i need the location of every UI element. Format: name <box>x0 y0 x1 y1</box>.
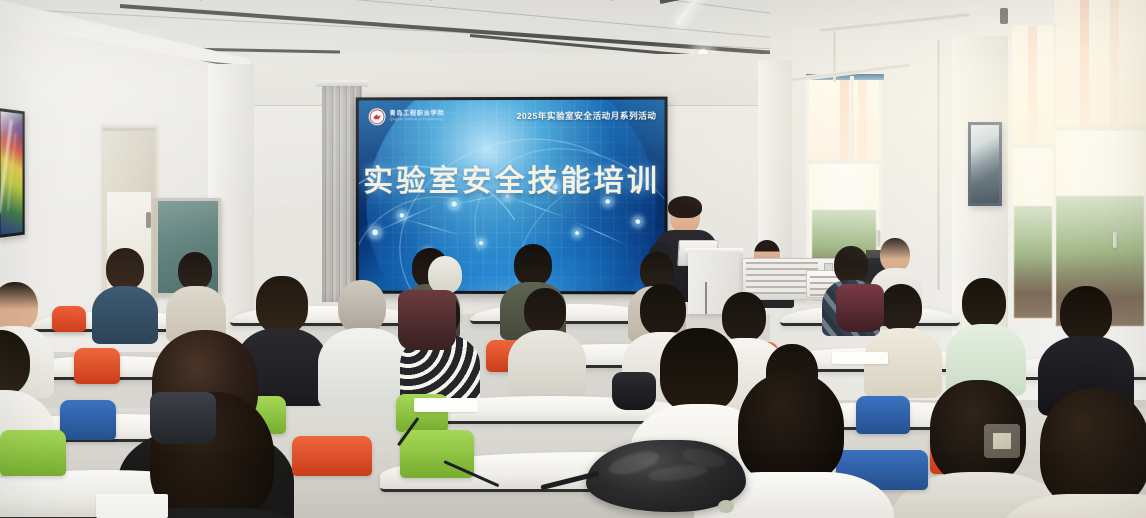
attendee-head <box>962 278 1006 328</box>
window-handle[interactable] <box>876 230 880 246</box>
notebook-page <box>96 494 168 518</box>
attendee-head <box>338 280 386 334</box>
classroom-photo-scene: 青岛工程职业学院 Qingdao Institute of Engineerin… <box>0 0 1146 518</box>
attendee-head <box>106 248 144 290</box>
umbrella-tip <box>718 500 734 513</box>
notebook-page <box>414 398 478 412</box>
attendee-head <box>880 238 910 272</box>
attendee-head <box>834 246 868 284</box>
side-door-handle[interactable] <box>146 212 151 228</box>
left-wall-artwork <box>0 108 25 238</box>
classroom-chair[interactable] <box>856 396 910 434</box>
classroom-chair[interactable] <box>74 348 120 384</box>
attendee-head <box>514 244 552 286</box>
attendee-torso <box>508 330 586 400</box>
backpack <box>836 284 884 332</box>
attendee-head <box>1060 286 1112 342</box>
attendee-head <box>738 372 844 484</box>
attendee-head <box>660 328 738 412</box>
right-wall-artwork <box>968 122 1002 206</box>
presentation-screen[interactable]: 青岛工程职业学院 Qingdao Institute of Engineerin… <box>356 97 668 295</box>
network-node <box>371 228 380 237</box>
network-node <box>478 240 484 246</box>
window-mullion <box>850 76 854 162</box>
network-node <box>450 200 458 208</box>
screen-main-title: 实验室安全技能培训 <box>359 156 665 200</box>
handbag <box>612 372 656 410</box>
attendee-head <box>640 284 686 336</box>
wall-conduit <box>937 40 940 290</box>
attendee-head <box>256 276 308 334</box>
window-mullion <box>1010 144 1056 148</box>
screen-event-ribbon: 2025年实验室安全活动月系列活动 <box>517 110 657 122</box>
logo-name-en: Qingdao Institute of Engineering <box>389 118 442 122</box>
institution-logo: 青岛工程职业学院 Qingdao Institute of Engineerin… <box>369 108 445 125</box>
attendee-torso <box>318 328 410 408</box>
attendee-torso <box>92 286 158 344</box>
attendee-head <box>428 256 462 294</box>
window-handle[interactable] <box>1113 232 1117 248</box>
attendee-head <box>880 284 922 332</box>
screen-surface: 青岛工程职业学院 Qingdao Institute of Engineerin… <box>359 100 665 292</box>
window-mullion <box>1052 126 1146 131</box>
classroom-chair[interactable] <box>52 306 86 332</box>
window-roller-blind[interactable] <box>1012 26 1054 144</box>
window-view-outside <box>1014 206 1052 318</box>
window-roller-blind[interactable] <box>1054 0 1146 126</box>
attendee-head <box>722 292 766 342</box>
network-node <box>574 230 580 236</box>
attendee-head <box>524 288 566 334</box>
logo-emblem-icon <box>369 108 386 125</box>
classroom-chair[interactable] <box>0 430 66 476</box>
classroom-chair[interactable] <box>60 400 116 440</box>
backpack <box>398 290 456 350</box>
network-node <box>398 212 405 219</box>
window-mullion <box>806 160 884 164</box>
classroom-chair[interactable] <box>292 436 372 476</box>
microphone-stand <box>705 282 707 314</box>
attendee-head <box>178 252 212 290</box>
notebook-page <box>832 352 888 364</box>
network-node <box>634 218 641 225</box>
attendee-head <box>1040 388 1146 508</box>
backpack <box>150 392 216 444</box>
attendee-head <box>0 282 38 332</box>
window-roller-blind[interactable] <box>810 80 878 162</box>
hair-clip <box>984 424 1020 458</box>
wall-conduit-fitting <box>1000 8 1008 24</box>
presenter-hair <box>668 196 702 218</box>
